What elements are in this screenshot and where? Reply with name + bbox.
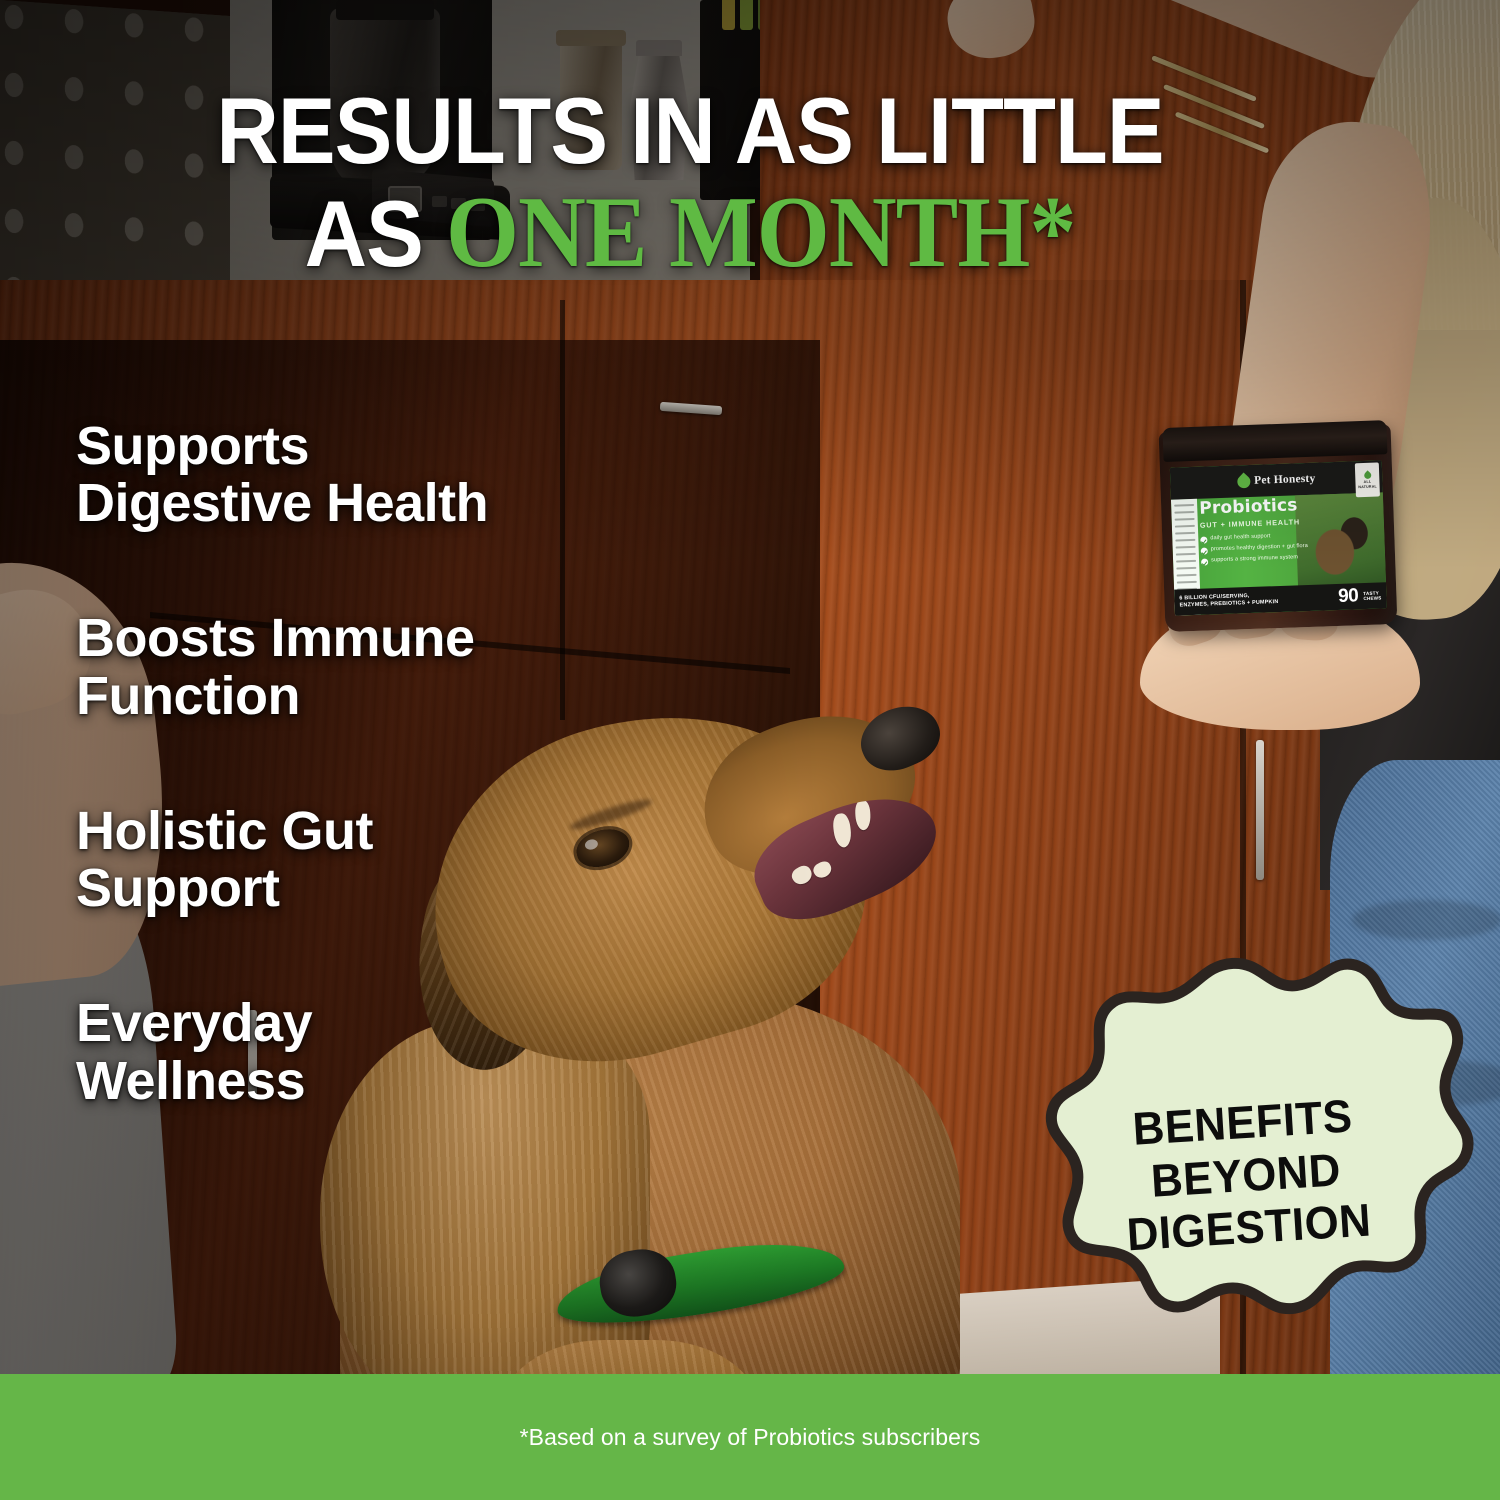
- product-bullet: supports a strong immune system: [1201, 554, 1321, 566]
- product-subtitle: GUT + IMMUNE HEALTH: [1200, 517, 1320, 530]
- headline-line-2-prefix: AS: [305, 181, 446, 286]
- product-bullet: promotes healthy digestion + gut flora: [1201, 543, 1321, 555]
- headline: RESULTS IN AS LITTLE AS ONE MONTH*: [0, 88, 1380, 280]
- knife-handle: [740, 0, 753, 30]
- dog-tooth: [789, 863, 815, 888]
- dog-tooth: [855, 800, 872, 831]
- cabinet-handle: [1256, 740, 1264, 880]
- brand-name: Pet Honesty: [1254, 473, 1316, 487]
- jar-label-content: Probiotics GUT + IMMUNE HEALTH daily gut…: [1199, 497, 1321, 569]
- headline-line-1: RESULTS IN AS LITTLE: [55, 88, 1325, 174]
- check-icon: [1201, 558, 1208, 565]
- benefit-item: Boosts Immune Function: [76, 610, 716, 724]
- benefit-item: Supports Digestive Health: [76, 418, 716, 532]
- dog-tooth: [832, 813, 853, 849]
- benefit-item: Holistic Gut Support: [76, 803, 716, 917]
- dog-tooth: [811, 859, 834, 881]
- product-count: 90: [1338, 588, 1359, 605]
- badge-text: BENEFITS BEYOND DIGESTION: [1003, 941, 1489, 1408]
- product-count-label: TASTY CHEWS: [1363, 590, 1381, 602]
- benefits-beyond-digestion-badge: BENEFITS BEYOND DIGESTION: [1003, 941, 1489, 1408]
- bullet-text: daily gut health support: [1210, 533, 1270, 543]
- check-icon: [1200, 536, 1207, 543]
- moka-pot-lid: [636, 40, 682, 56]
- badge-line-3: DIGESTION: [1126, 1197, 1373, 1259]
- headline-line-2: AS ONE MONTH*: [55, 186, 1325, 280]
- badge-line-2: BEYOND: [1150, 1146, 1342, 1204]
- bullet-text: promotes healthy digestion + gut flora: [1211, 543, 1308, 554]
- carafe-lid: [336, 0, 434, 20]
- jeans-fold: [1352, 900, 1500, 940]
- benefit-item: Everyday Wellness: [76, 995, 716, 1109]
- footer-disclaimer: *Based on a survey of Probiotics subscri…: [520, 1424, 981, 1451]
- leaf-icon: [1235, 472, 1253, 490]
- product-name: Probiotics: [1199, 497, 1320, 518]
- product-callout: 6 BILLION CFU/SERVING, ENZYMES, PREBIOTI…: [1179, 590, 1333, 609]
- product-bullets: daily gut health support promotes health…: [1200, 532, 1321, 566]
- check-icon: [1201, 547, 1208, 554]
- product-jar: Pet Honesty Probiotics GUT + IMMUNE HEAL…: [1159, 424, 1398, 632]
- seal-line-1: ALL: [1364, 479, 1372, 483]
- knife-handle: [722, 0, 735, 30]
- seal-line-2: NATURAL: [1358, 484, 1377, 489]
- product-ad-banner: Pet Honesty Probiotics GUT + IMMUNE HEAL…: [0, 0, 1500, 1500]
- benefits-list: Supports Digestive Health Boosts Immune …: [76, 418, 716, 1110]
- headline-highlight: ONE MONTH*: [446, 176, 1075, 289]
- jar-label: Pet Honesty Probiotics GUT + IMMUNE HEAL…: [1170, 460, 1387, 615]
- canister-lid: [556, 30, 626, 46]
- bullet-text: supports a strong immune system: [1211, 554, 1298, 565]
- all-natural-seal: ALL NATURAL: [1355, 462, 1380, 497]
- product-bullet: daily gut health support: [1200, 532, 1320, 544]
